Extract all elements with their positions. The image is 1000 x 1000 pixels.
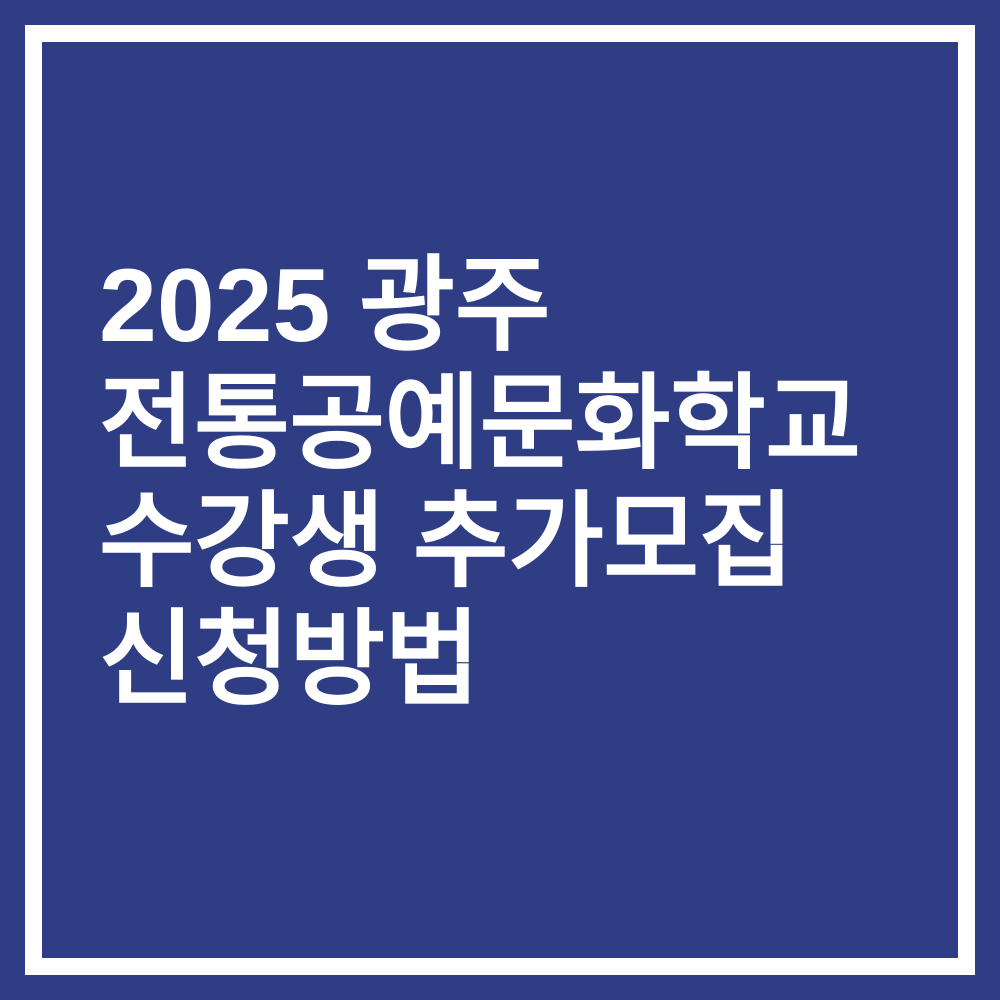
poster-canvas: 2025 광주 전통공예문화학교 수강생 추가모집 신청방법 bbox=[0, 0, 1000, 1000]
page-title: 2025 광주 전통공예문화학교 수강생 추가모집 신청방법 bbox=[99, 247, 929, 719]
title-line-1: 2025 광주 bbox=[99, 247, 929, 365]
title-line-4: 신청방법 bbox=[99, 601, 929, 719]
title-line-3: 수강생 추가모집 bbox=[99, 483, 929, 601]
title-line-2: 전통공예문화학교 bbox=[99, 365, 929, 483]
